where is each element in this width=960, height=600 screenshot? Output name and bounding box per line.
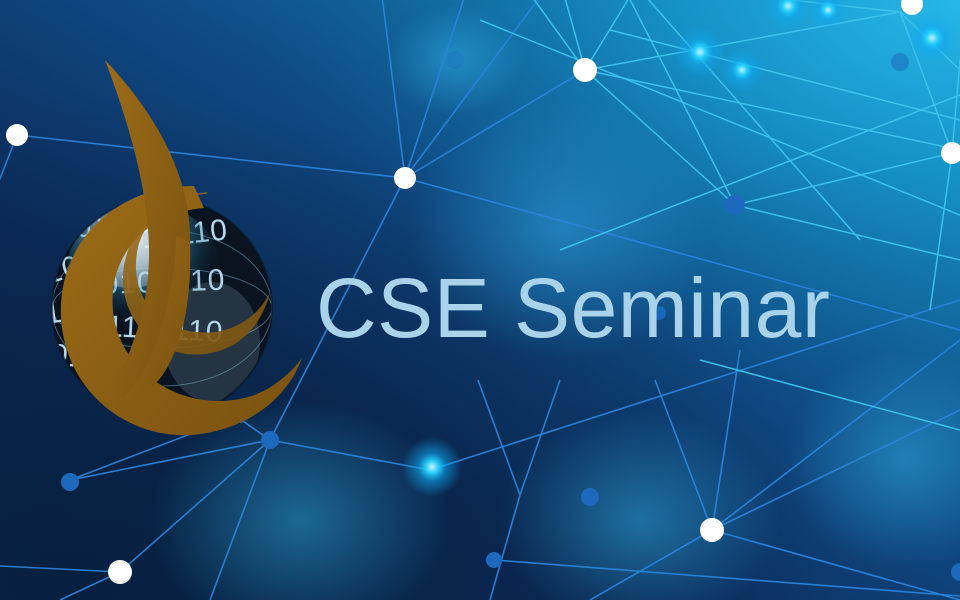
cse-seminar-banner: 1011 101 101 0101 010 . 01010 11011 1010…	[0, 0, 960, 600]
page-title: CSE Seminar	[316, 266, 830, 350]
network-glow-nodes	[402, 0, 958, 497]
golden-flame	[61, 60, 302, 443]
logo: 1011 101 101 0101 010 . 01010 11011 1010…	[44, 46, 314, 446]
